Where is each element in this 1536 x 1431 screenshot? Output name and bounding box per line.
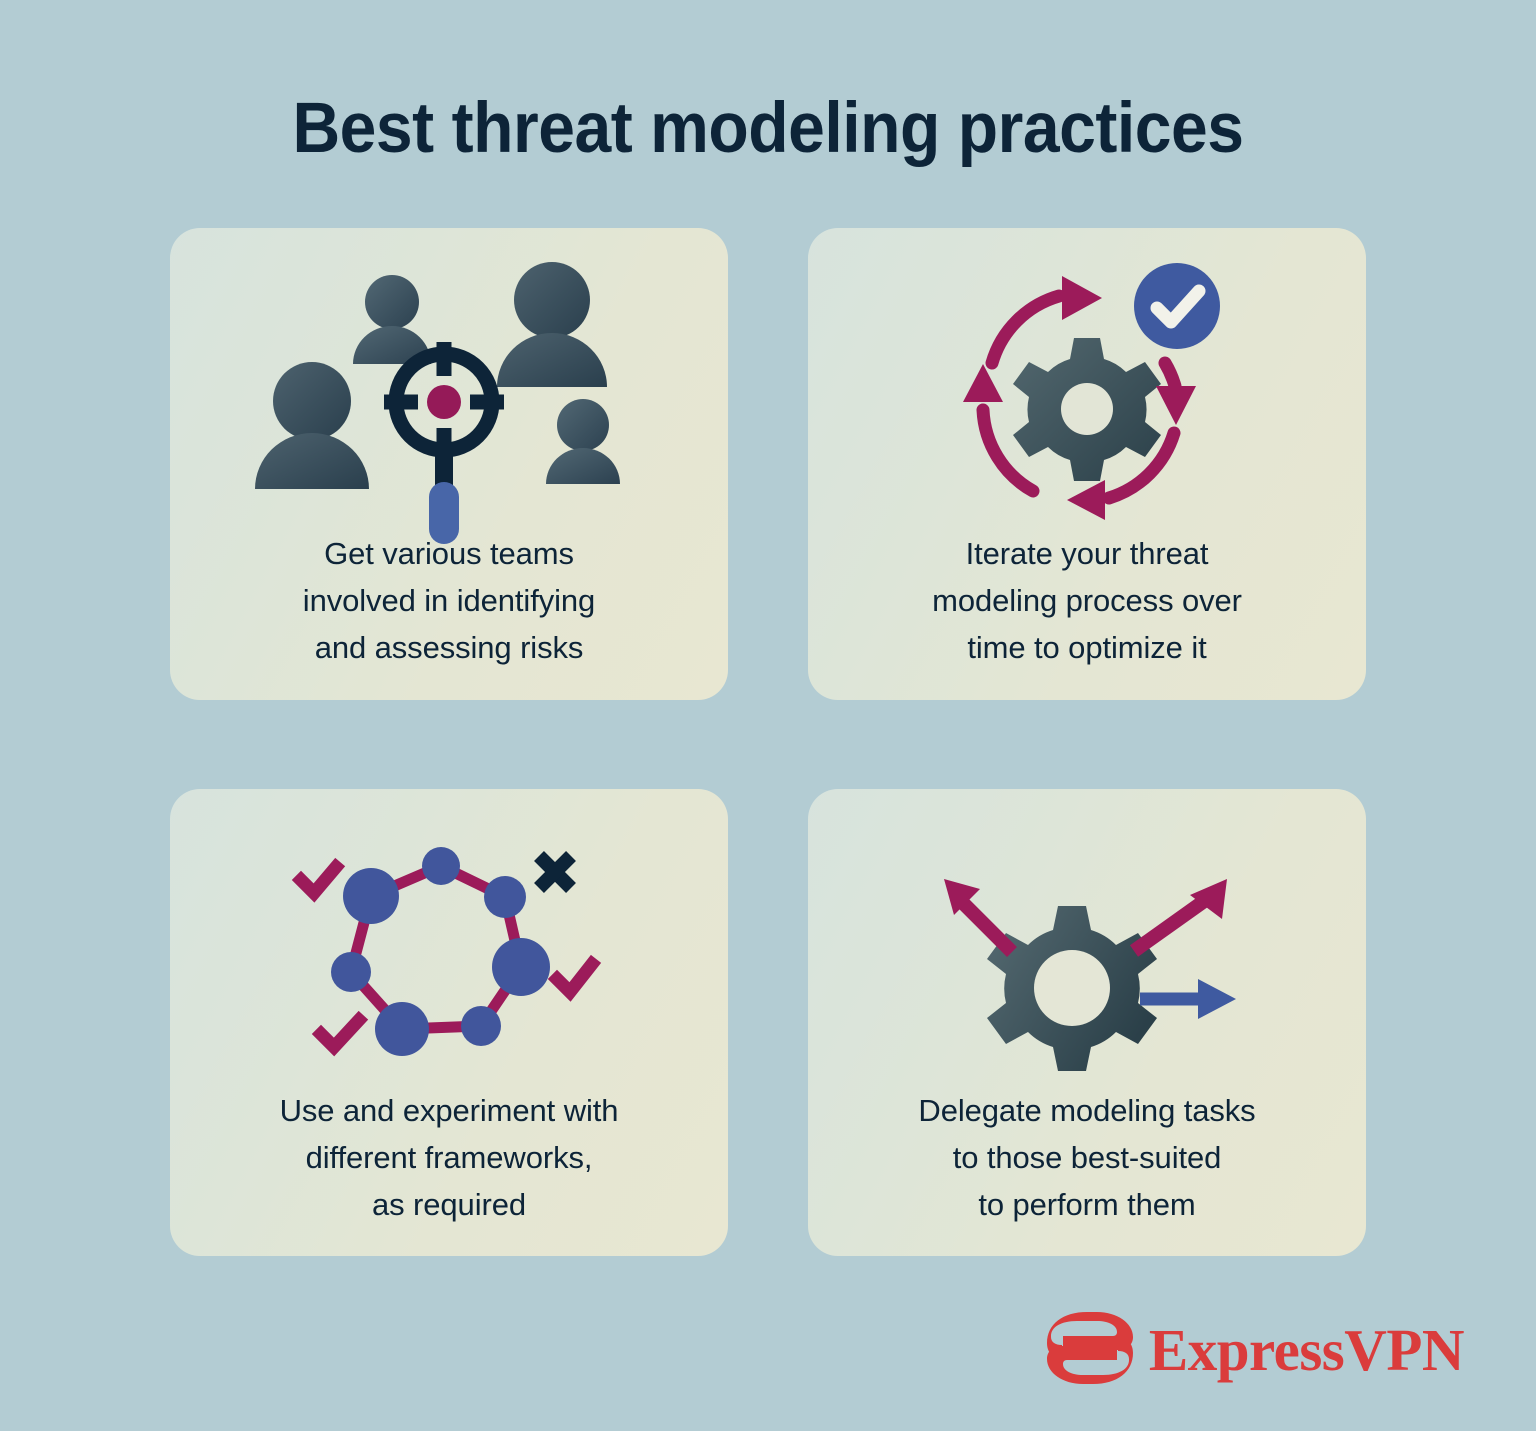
gear-icon xyxy=(987,906,1157,1071)
infographic-page: Best threat modeling practices xyxy=(0,0,1536,1431)
check-right xyxy=(557,964,592,992)
card-experiment-frameworks: Use and experiment with different framew… xyxy=(170,789,728,1256)
arrow-up-right xyxy=(1134,879,1227,951)
person-silhouette-left xyxy=(255,362,369,489)
network-polygon-check-icon xyxy=(170,819,728,1099)
check-top-left xyxy=(301,867,336,893)
person-silhouette-top-right xyxy=(497,262,607,387)
practices-grid: Get various teams involved in identifyin… xyxy=(170,228,1366,1256)
card-delegate-tasks: Delegate modeling tasks to those best-su… xyxy=(808,789,1366,1256)
crosshair-center-dot xyxy=(427,385,461,419)
people-around-target-icon xyxy=(170,254,728,544)
expressvpn-e-mark xyxy=(1047,1312,1133,1389)
card-iterate-process: Iterate your threat modeling process ove… xyxy=(808,228,1366,700)
arrow-up-left xyxy=(944,879,1012,952)
card-caption: Get various teams involved in identifyin… xyxy=(170,530,728,671)
gear-cycle-check-icon xyxy=(808,258,1366,538)
person-silhouette-right xyxy=(546,399,620,484)
expressvpn-wordmark: ExpressVPN xyxy=(1149,1321,1464,1380)
page-title: Best threat modeling practices xyxy=(54,88,1482,170)
gear-icon xyxy=(1013,338,1161,481)
card-get-teams-involved: Get various teams involved in identifyin… xyxy=(170,228,728,700)
arrow-right xyxy=(1140,979,1236,1019)
card-caption: Delegate modeling tasks to those best-su… xyxy=(808,1087,1366,1228)
gear-arrows-icon xyxy=(808,829,1366,1099)
cross-x-icon xyxy=(539,856,571,888)
card-caption: Use and experiment with different framew… xyxy=(170,1087,728,1228)
check-badge-icon xyxy=(1134,263,1220,349)
person-silhouette-top xyxy=(353,275,431,364)
check-bottom-left xyxy=(321,1020,359,1047)
expressvpn-logo: ExpressVPN xyxy=(1047,1312,1464,1389)
card-caption: Iterate your threat modeling process ove… xyxy=(808,530,1366,671)
